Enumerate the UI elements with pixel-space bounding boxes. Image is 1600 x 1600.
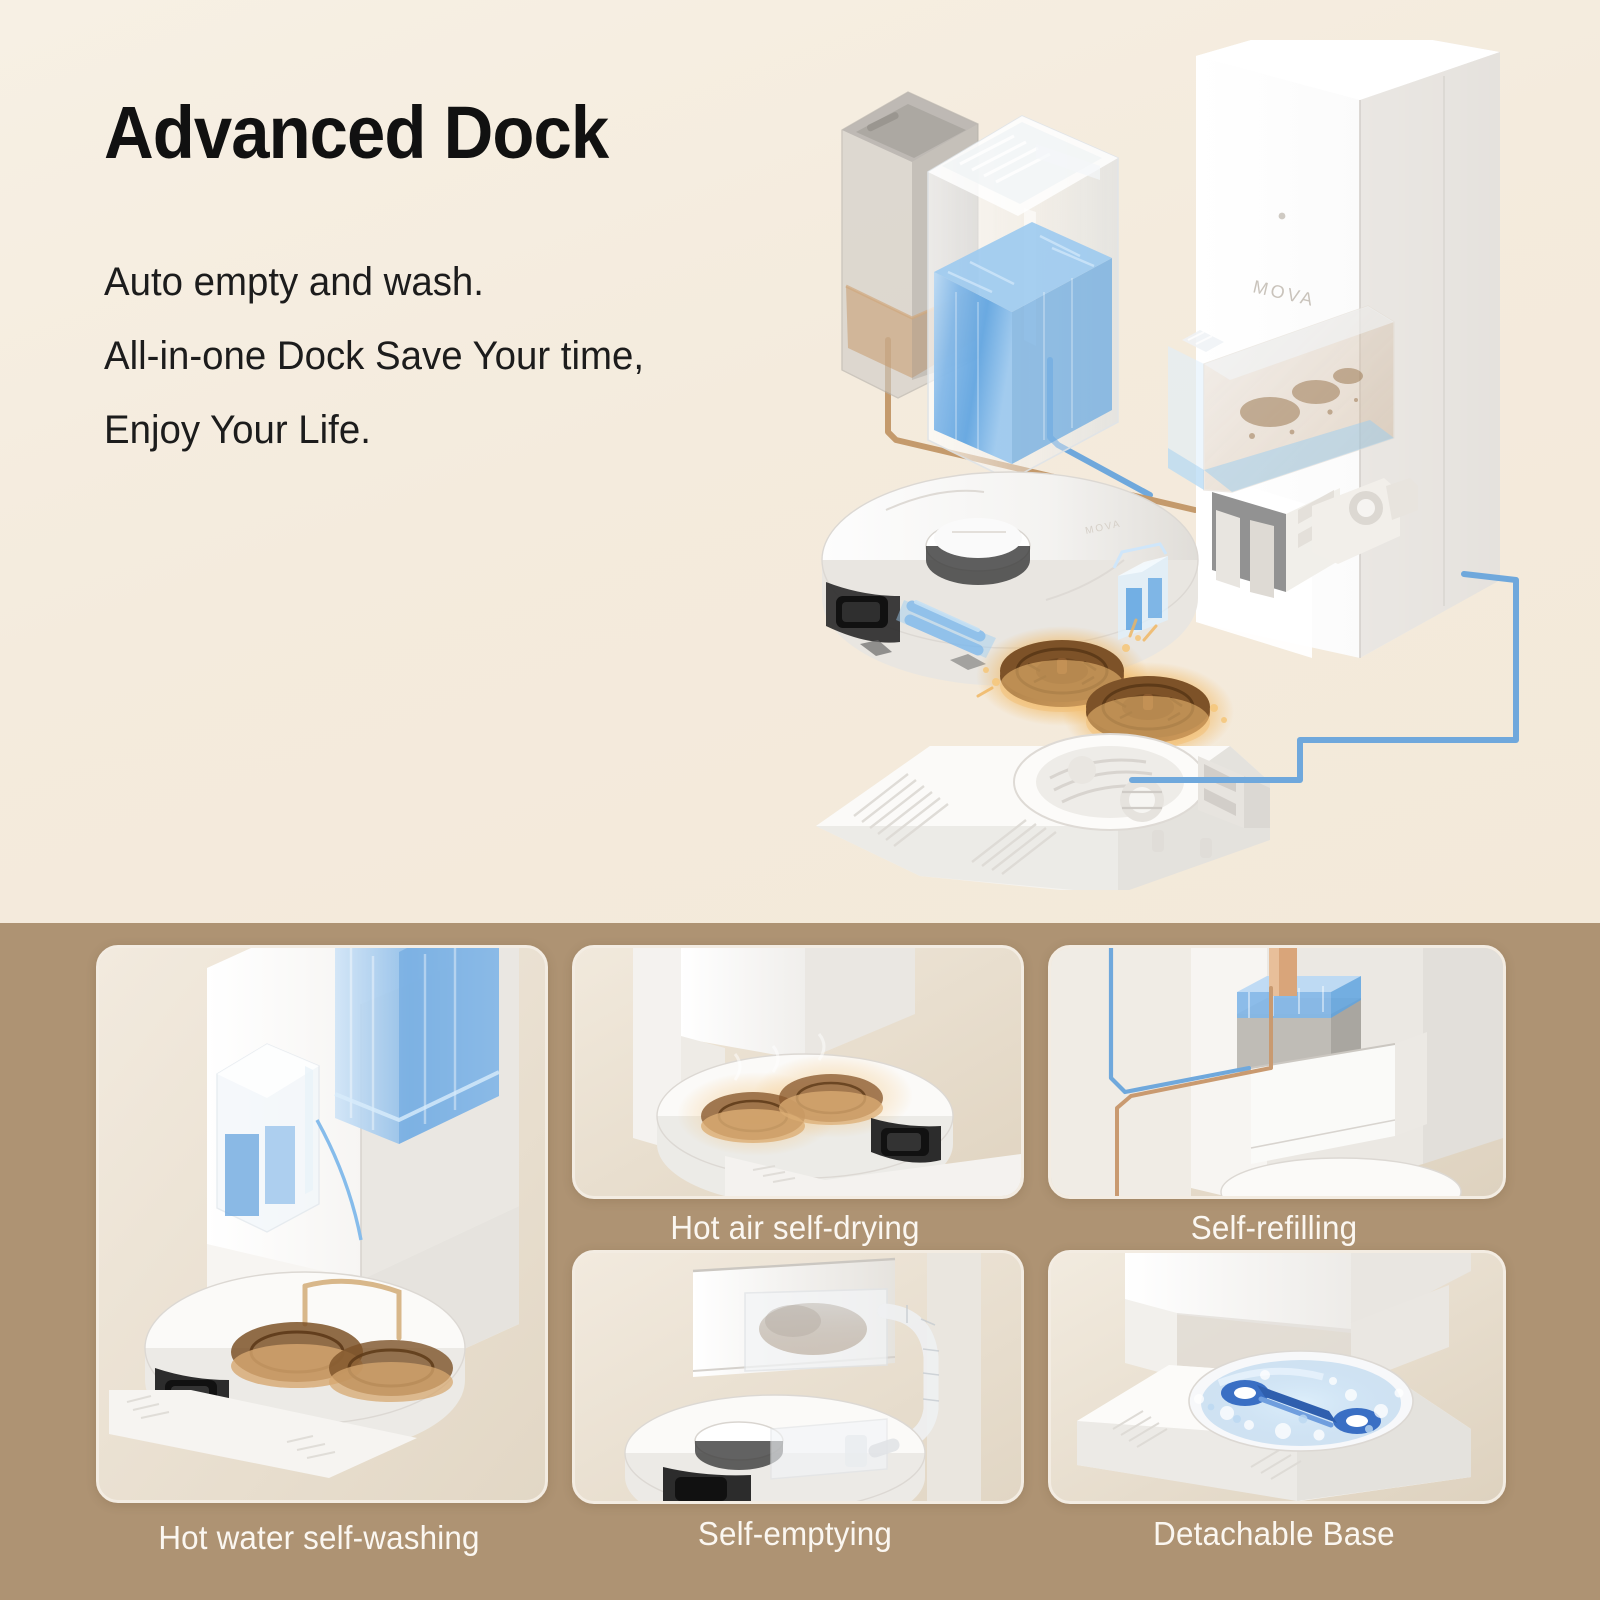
detachable-base-image (1051, 1253, 1503, 1501)
self-emptying-image (575, 1253, 1021, 1501)
feature-card-hot-air-self-drying[interactable] (572, 945, 1024, 1199)
caption-hot-air-self-drying: Hot air self-drying (583, 1209, 1007, 1247)
feature-card-self-refilling[interactable] (1048, 945, 1506, 1199)
caption-detachable-base: Detachable Base (1059, 1515, 1488, 1553)
subtitle-line-1: Auto empty and wash. (104, 245, 644, 319)
hero-subtitle: Auto empty and wash. All-in-one Dock Sav… (104, 245, 644, 467)
detachable-base-plate (816, 734, 1270, 890)
caption-self-refilling: Self-refilling (1059, 1209, 1488, 1247)
subtitle-line-3: Enjoy Your Life. (104, 393, 644, 467)
feature-card-self-emptying[interactable] (572, 1250, 1024, 1504)
subtitle-line-2: All-in-one Dock Save Your time, (104, 319, 644, 393)
page-title: Advanced Dock (104, 96, 608, 170)
exploded-product-diagram: MOVA (800, 40, 1560, 890)
feature-panel: Hot water self-washing Hot air self-dryi… (0, 923, 1600, 1600)
hot-water-self-washing-image (99, 948, 545, 1500)
feature-card-hot-water-self-washing[interactable] (96, 945, 548, 1503)
clean-water-tank (928, 116, 1118, 480)
self-refilling-image (1051, 948, 1503, 1196)
feature-grid: Hot water self-washing Hot air self-dryi… (96, 945, 1504, 1585)
feature-card-detachable-base[interactable] (1048, 1250, 1506, 1504)
advanced-dock-infographic: Advanced Dock Auto empty and wash. All-i… (0, 0, 1600, 1600)
hero-section: Advanced Dock Auto empty and wash. All-i… (0, 0, 1600, 923)
caption-hot-water-self-washing: Hot water self-washing (107, 1519, 531, 1557)
caption-self-emptying: Self-emptying (583, 1515, 1007, 1553)
hot-air-self-drying-image (575, 948, 1021, 1196)
